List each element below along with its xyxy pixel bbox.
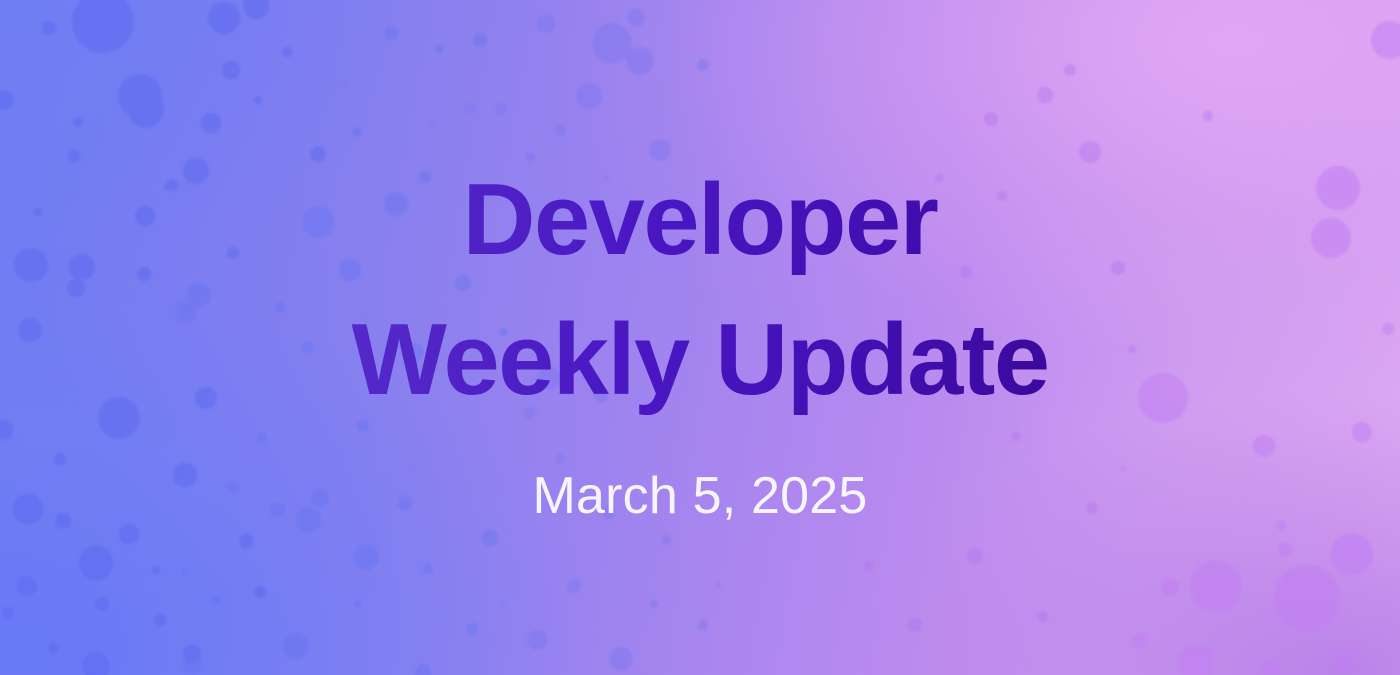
page-title: Developer Weekly Update [200,150,1200,436]
page-title-line-2: Weekly Update [200,290,1200,430]
page-title-line-1: Developer [200,150,1200,290]
page-subtitle-date: March 5, 2025 [532,436,867,526]
developer-weekly-update-banner: Developer Weekly Update March 5, 2025 [0,0,1400,675]
banner-content: Developer Weekly Update March 5, 2025 [0,0,1400,675]
